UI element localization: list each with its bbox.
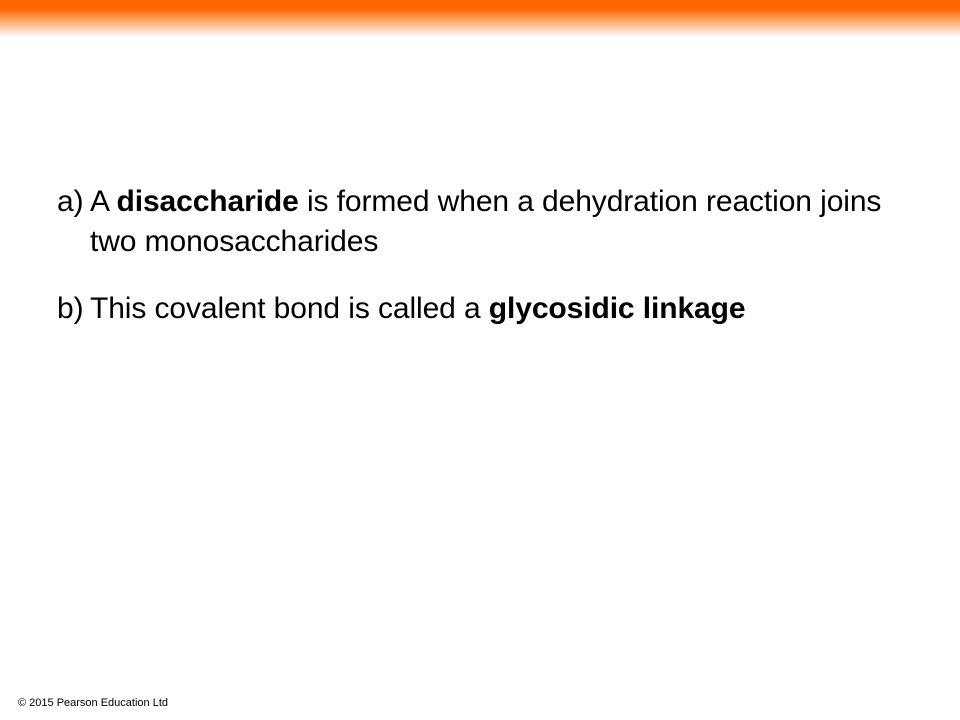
text-segment: A	[90, 185, 117, 218]
orange-band-solid	[0, 0, 960, 9]
text-segment-bold: disaccharide	[117, 185, 299, 218]
list-item-marker-a: a)	[57, 182, 90, 222]
slide-body-list: a) A disaccharide is formed when a dehyd…	[57, 182, 887, 329]
slide-canvas: a) A disaccharide is formed when a dehyd…	[0, 0, 960, 720]
text-segment: This covalent bond is called a	[90, 292, 489, 325]
list-item: a) A disaccharide is formed when a dehyd…	[57, 182, 887, 262]
text-segment-bold: glycosidic linkage	[489, 292, 746, 325]
list-item-text-a: A disaccharide is formed when a dehydrat…	[90, 182, 887, 262]
list-item: b) This covalent bond is called a glycos…	[57, 289, 887, 329]
orange-band-fade	[0, 9, 960, 37]
list-item-text-b: This covalent bond is called a glycosidi…	[90, 289, 887, 329]
list-item-marker-b: b)	[57, 289, 90, 329]
footer-copyright: © 2015 Pearson Education Ltd	[18, 697, 168, 710]
orange-gradient-band	[0, 0, 960, 37]
